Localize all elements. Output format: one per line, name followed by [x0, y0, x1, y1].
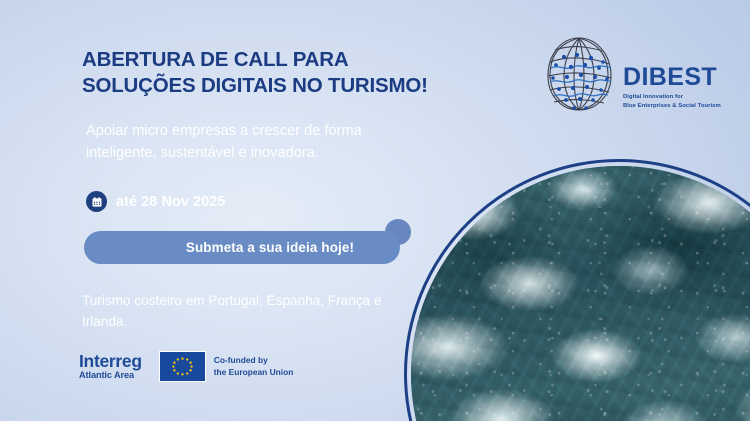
- dibest-logo: DIBEST Digital Innovation for Blue Enter…: [541, 34, 721, 116]
- interreg-logo: Interreg Atlantic Area: [79, 353, 142, 381]
- subheadline: Apoiar micro empresas a crescer de forma…: [86, 120, 406, 164]
- interreg-wordmark: Interreg: [79, 353, 142, 371]
- page-title: ABERTURA DE CALL PARA SOLUÇÕES DIGITAIS …: [82, 47, 432, 99]
- eu-funding-line1: Co-funded by: [214, 355, 294, 367]
- deadline-row: até 28 Nov 2025: [86, 191, 432, 212]
- eu-funding-text: Co-funded by the European Union: [214, 355, 294, 379]
- interreg-programme: Atlantic Area: [79, 371, 142, 380]
- dibest-tagline-line2: Blue Enterprises & Social Tourism: [623, 102, 721, 111]
- campaign-banner: DIBEST Digital Innovation for Blue Enter…: [0, 0, 750, 421]
- eu-flag-icon: [159, 351, 206, 382]
- submit-idea-button[interactable]: Submeta a sua ideia hoje!: [84, 231, 400, 264]
- funding-logos: Interreg Atlantic Area: [79, 351, 293, 382]
- deadline-text: até 28 Nov 2025: [116, 194, 226, 210]
- calendar-icon: [86, 191, 107, 212]
- banner-content: ABERTURA DE CALL PARA SOLUÇÕES DIGITAIS …: [82, 47, 432, 332]
- eu-funding-logo: Co-funded by the European Union: [159, 351, 294, 382]
- dibest-wordmark: DIBEST: [623, 65, 721, 90]
- ocean-photo-circle: [404, 159, 750, 421]
- regions-text: Turismo costeiro em Portugal, Espanha, F…: [82, 291, 397, 332]
- eu-funding-line2: the European Union: [214, 367, 294, 379]
- globe-network-icon: [541, 34, 619, 116]
- dibest-tagline-line1: Digital Innovation for: [623, 93, 721, 102]
